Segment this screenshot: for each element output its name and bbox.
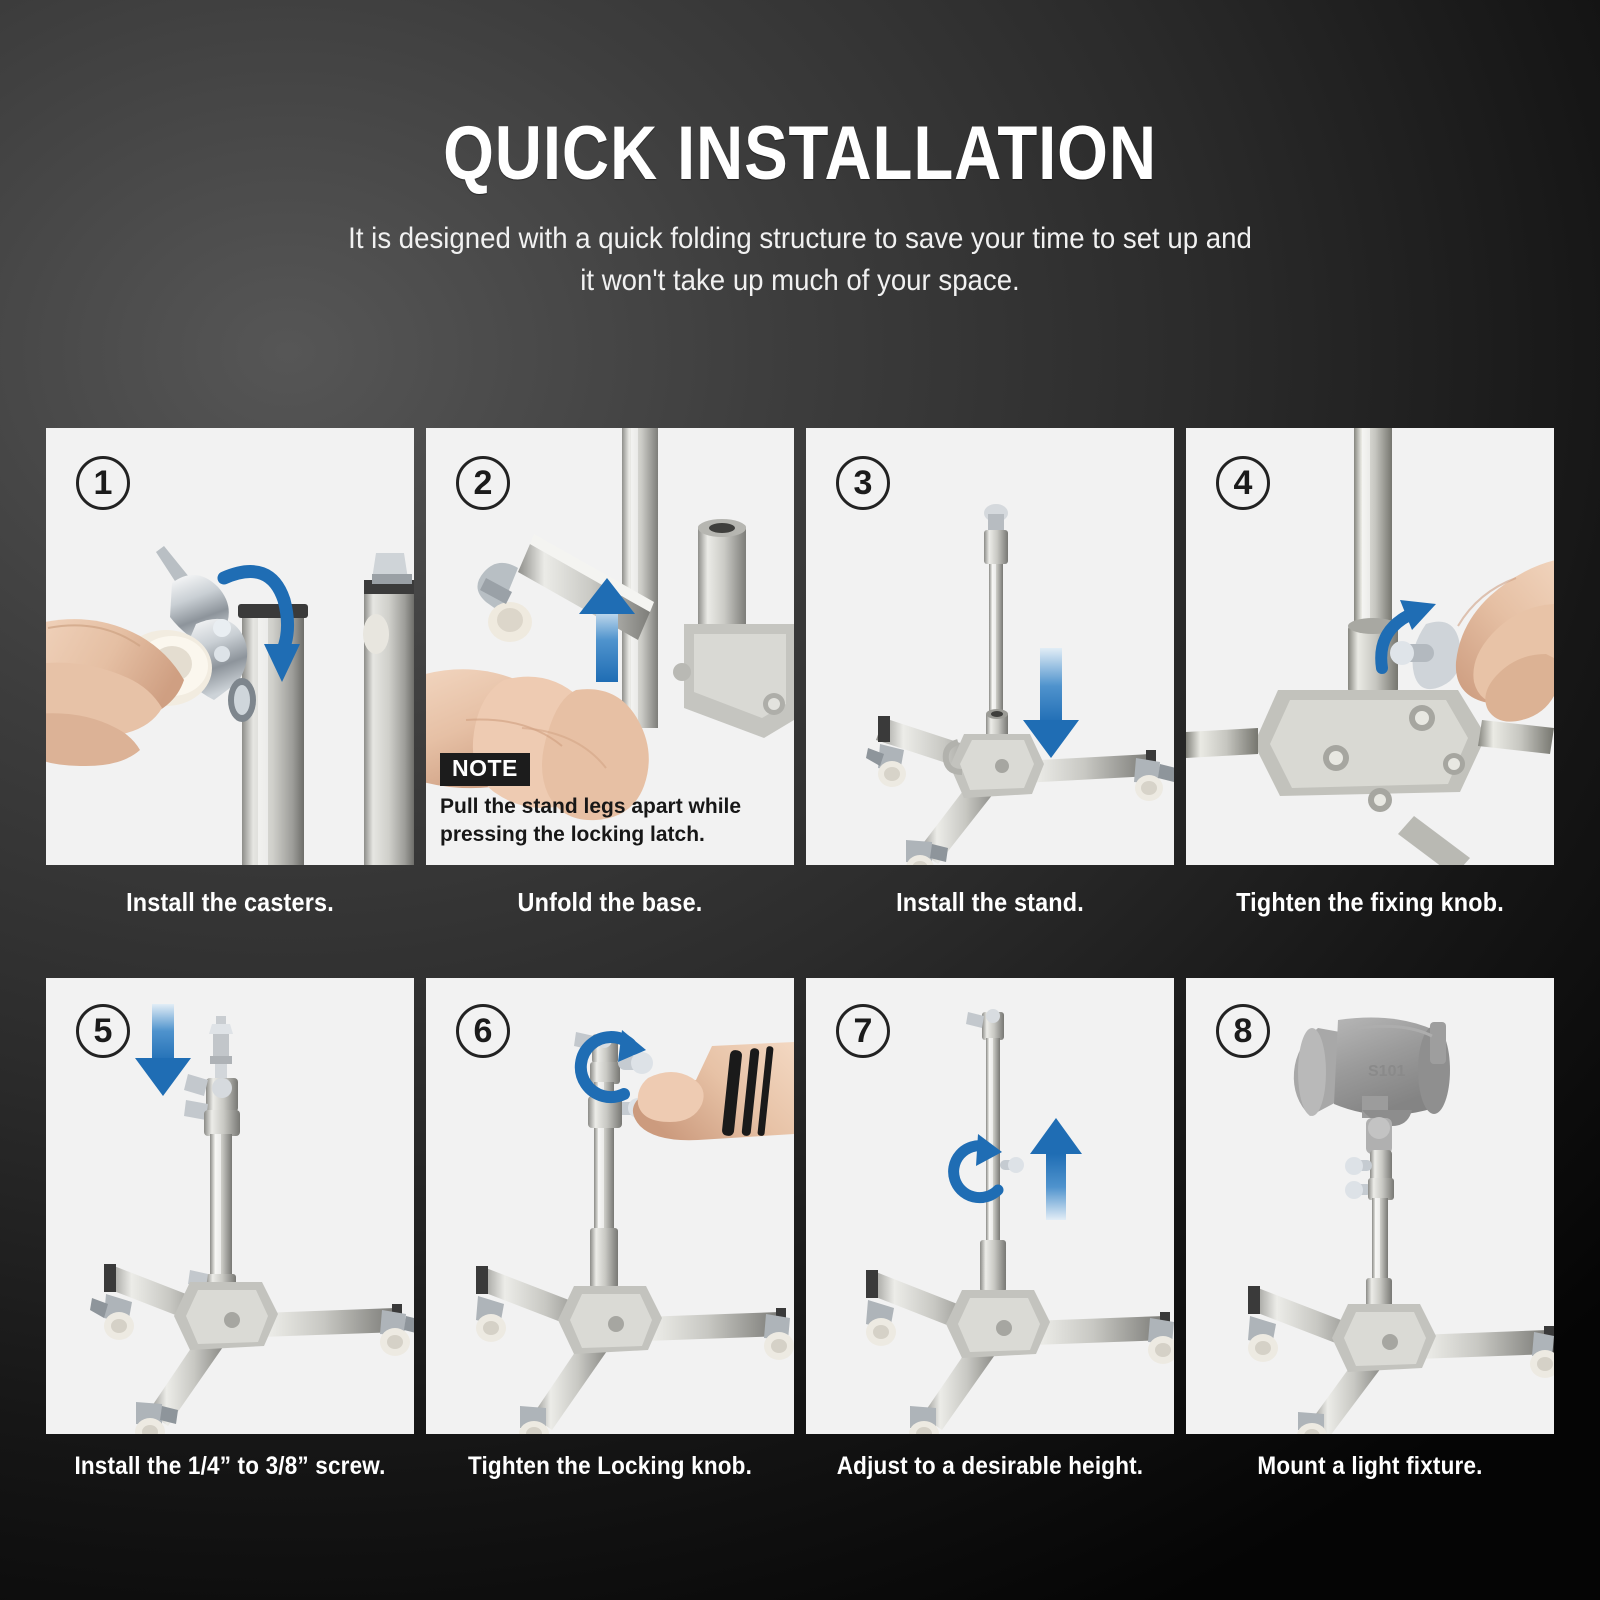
step-image-8: S101	[1186, 978, 1554, 1434]
step-badge-2: 2	[456, 456, 510, 510]
base-hub	[174, 1282, 278, 1350]
steps-grid: 1 Install the casters.	[46, 428, 1554, 1481]
base-hub	[558, 1286, 662, 1354]
header: QUICK INSTALLATION It is designed with a…	[0, 0, 1600, 302]
step-caption-6: Tighten the Locking knob.	[444, 1452, 775, 1481]
step-card-1: 1 Install the casters.	[46, 428, 414, 918]
step-image-4: 4	[1186, 428, 1554, 865]
step-badge-6: 6	[456, 1004, 510, 1058]
step-caption-3: Install the stand.	[824, 887, 1155, 918]
note-text: Pull the stand legs apart while pressing…	[440, 793, 776, 849]
step-badge-3: 3	[836, 456, 890, 510]
step-badge-8: 8	[1216, 1004, 1270, 1058]
subtitle-line-1: It is designed with a quick folding stru…	[64, 218, 1536, 260]
step-card-4: 4 Tighten the fixing knob.	[1186, 428, 1554, 918]
steps-row-2: 5 Install the 1/4” to 3/8” screw.	[46, 978, 1554, 1481]
base-hub	[1332, 1304, 1436, 1372]
step-image-2: 2 NOTE Pull the stand legs apart while p…	[426, 428, 794, 865]
step-card-5: 5 Install the 1/4” to 3/8” screw.	[46, 978, 414, 1481]
step-card-6: 6 Tighten the Locking knob.	[426, 978, 794, 1481]
step-card-8: S101	[1186, 978, 1554, 1481]
quick-installation-infographic: QUICK INSTALLATION It is designed with a…	[0, 0, 1600, 1600]
base-hub	[946, 1290, 1050, 1358]
step-card-7: 7 Adjust to a desirable height.	[806, 978, 1174, 1481]
square-steel-leg	[238, 604, 308, 865]
step-caption-1: Install the casters.	[64, 887, 395, 918]
step-card-2: 2 NOTE Pull the stand legs apart while p…	[426, 428, 794, 918]
step-image-7: 7	[806, 978, 1174, 1434]
base-hub	[946, 734, 1044, 798]
step-caption-8: Mount a light fixture.	[1204, 1452, 1535, 1481]
studio-light-fixture: S101	[1294, 1018, 1450, 1126]
step-image-1: 1	[46, 428, 414, 865]
step-image-3: 3	[806, 428, 1174, 865]
step-badge-4: 4	[1216, 456, 1270, 510]
step-card-3: 3 Install the stand.	[806, 428, 1174, 918]
step-badge-7: 7	[836, 1004, 890, 1058]
step-image-5: 5	[46, 978, 414, 1434]
subtitle-line-2: it won't take up much of your space.	[64, 260, 1536, 302]
light-model-label: S101	[1368, 1063, 1405, 1080]
background-leg	[363, 553, 414, 865]
step-caption-5: Install the 1/4” to 3/8” screw.	[64, 1452, 395, 1481]
stand-column	[622, 428, 658, 728]
step-caption-4: Tighten the fixing knob.	[1204, 887, 1535, 918]
step-caption-2: Unfold the base.	[444, 887, 775, 918]
steps-row-1: 1 Install the casters.	[46, 428, 1554, 918]
page-title: QUICK INSTALLATION	[112, 112, 1488, 196]
page-subtitle: It is designed with a quick folding stru…	[64, 218, 1536, 302]
step-image-6: 6	[426, 978, 794, 1434]
step-badge-1: 1	[76, 456, 130, 510]
note-box: NOTE Pull the stand legs apart while pre…	[440, 753, 780, 849]
step-caption-7: Adjust to a desirable height.	[824, 1452, 1155, 1481]
note-tag: NOTE	[440, 753, 530, 786]
step-badge-5: 5	[76, 1004, 130, 1058]
